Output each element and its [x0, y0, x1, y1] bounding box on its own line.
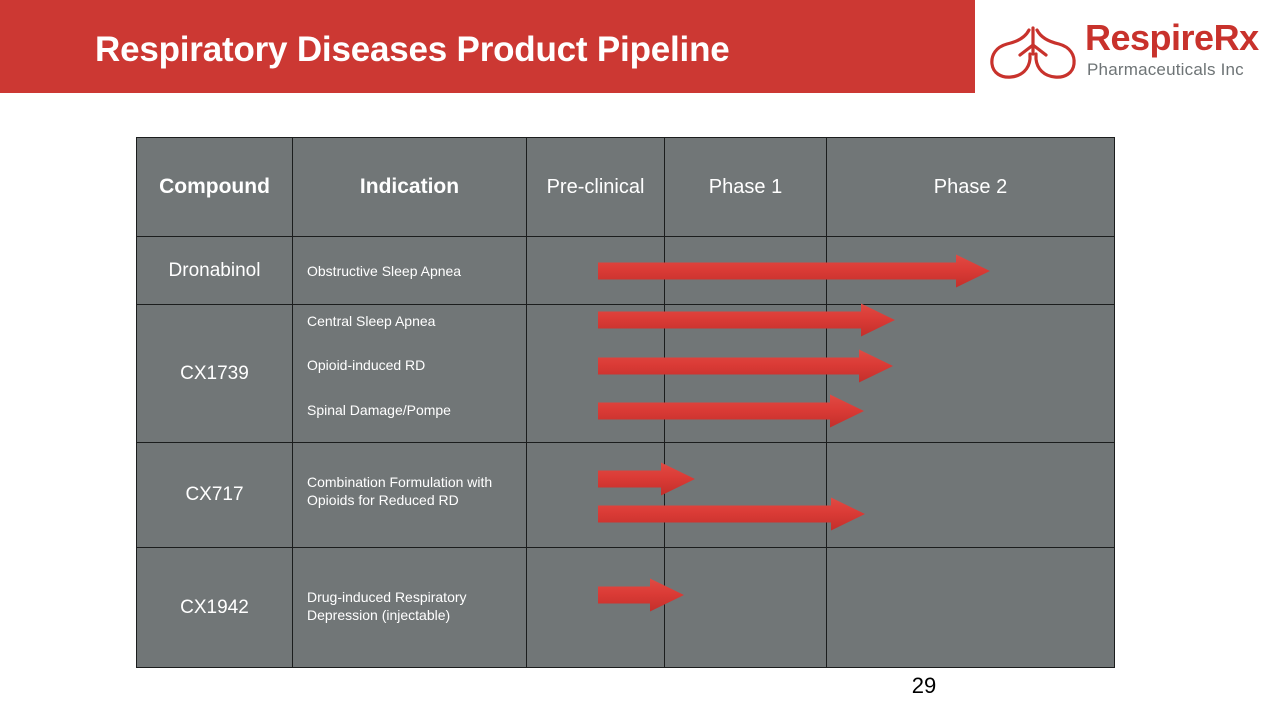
stage-cell-phase-2: [827, 548, 1115, 668]
stage-cell-phase-2: [827, 305, 1115, 443]
table-header-row: Compound Indication Pre-clinical Phase 1…: [137, 138, 1115, 237]
indication-label: Drug-induced Respiratory Depression (inj…: [307, 588, 490, 624]
stage-cell-phase-1: [665, 548, 827, 668]
pipeline-table: Compound Indication Pre-clinical Phase 1…: [136, 137, 1115, 668]
indication-label: Combination Formulation with Opioids for…: [307, 473, 502, 509]
indication-list: Central Sleep Apnea Opioid-induced RD Sp…: [293, 305, 526, 442]
indication-label: Spinal Damage/Pompe: [307, 401, 520, 419]
compound-name: CX1739: [137, 305, 293, 443]
stage-cell-phase-2: [827, 443, 1115, 548]
indication-list: Combination Formulation with Opioids for…: [293, 443, 526, 547]
page-title: Respiratory Diseases Product Pipeline: [95, 30, 730, 70]
company-logo: RespireRx Pharmaceuticals Inc: [985, 16, 1280, 88]
table-row: Dronabinol Obstructive Sleep Apnea: [137, 237, 1115, 305]
column-header-indication: Indication: [293, 138, 527, 237]
indication-label: Obstructive Sleep Apnea: [307, 262, 520, 280]
compound-name: Dronabinol: [137, 237, 293, 305]
indication-cell: Combination Formulation with Opioids for…: [293, 443, 527, 548]
indication-cell: Drug-induced Respiratory Depression (inj…: [293, 548, 527, 668]
column-header-phase-1: Phase 1: [665, 138, 827, 237]
indication-label: Central Sleep Apnea: [307, 312, 520, 330]
indication-list: Drug-induced Respiratory Depression (inj…: [293, 548, 526, 667]
stage-cell-phase-2: [827, 237, 1115, 305]
stage-cell-phase-1: [665, 443, 827, 548]
stage-cell-pre-clinical: [527, 443, 665, 548]
indication-list: Obstructive Sleep Apnea: [293, 237, 526, 304]
stage-cell-pre-clinical: [527, 305, 665, 443]
column-header-pre-clinical: Pre-clinical: [527, 138, 665, 237]
stage-cell-phase-1: [665, 305, 827, 443]
logo-subtext: Pharmaceuticals Inc: [1087, 61, 1244, 78]
compound-name: CX717: [137, 443, 293, 548]
table-row: CX717 Combination Formulation with Opioi…: [137, 443, 1115, 548]
logo-wordmark: RespireRx: [1085, 20, 1259, 56]
column-header-phase-2: Phase 2: [827, 138, 1115, 237]
lungs-icon: [985, 24, 1081, 82]
compound-name: CX1942: [137, 548, 293, 668]
indication-cell: Obstructive Sleep Apnea: [293, 237, 527, 305]
stage-cell-pre-clinical: [527, 548, 665, 668]
indication-label: Opioid-induced RD: [307, 356, 520, 374]
stage-cell-phase-1: [665, 237, 827, 305]
table-row: CX1942 Drug-induced Respiratory Depressi…: [137, 548, 1115, 668]
indication-cell: Central Sleep Apnea Opioid-induced RD Sp…: [293, 305, 527, 443]
page-number: 29: [900, 673, 948, 699]
table-row: CX1739 Central Sleep Apnea Opioid-induce…: [137, 305, 1115, 443]
stage-cell-pre-clinical: [527, 237, 665, 305]
column-header-compound: Compound: [137, 138, 293, 237]
